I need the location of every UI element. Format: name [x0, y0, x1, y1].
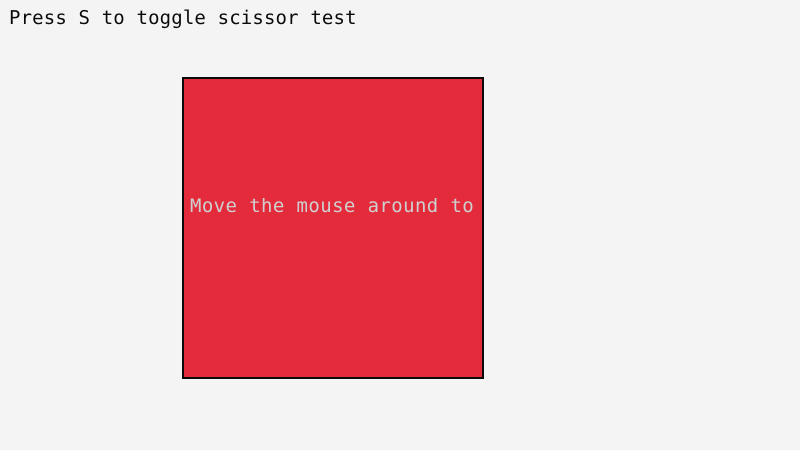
- demo-canvas[interactable]: Press S to toggle scissor test Move the …: [0, 0, 800, 450]
- scissor-rectangle[interactable]: Move the mouse around to r: [182, 77, 484, 379]
- scissor-clipped-message: Move the mouse around to r: [190, 195, 484, 217]
- scissor-test-hint: Press S to toggle scissor test: [9, 7, 357, 29]
